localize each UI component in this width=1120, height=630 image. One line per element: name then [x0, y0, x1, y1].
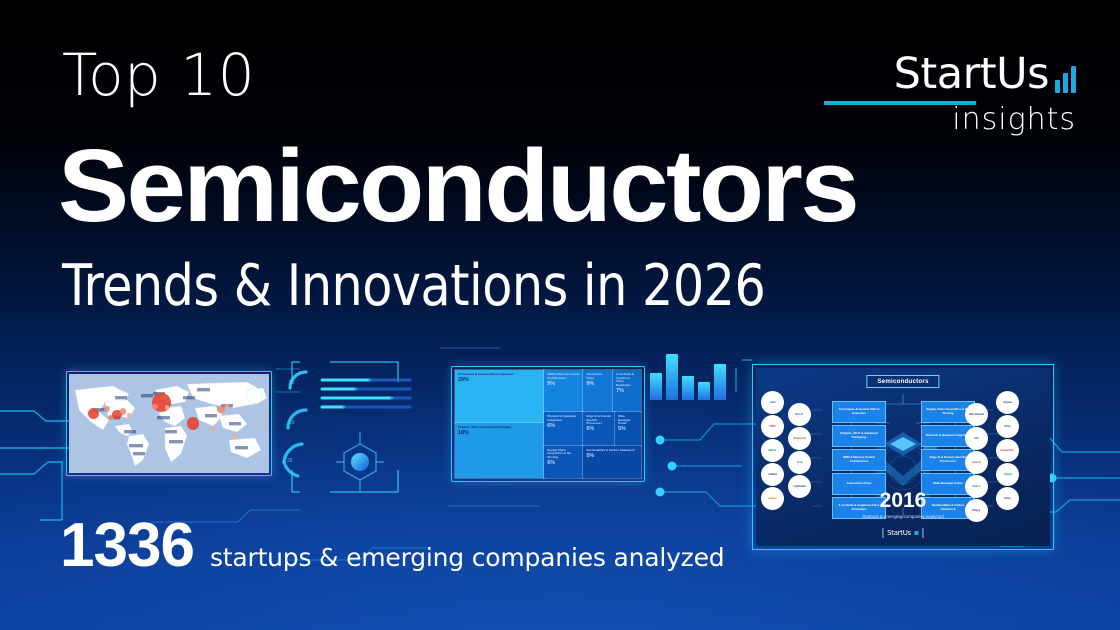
- treemap-chart: AI Compute & Custom Silicon Explosion29%…: [455, 370, 641, 478]
- company-logo-label: SiFive: [1004, 425, 1011, 428]
- trend-box-label: Automotive Chips: [847, 482, 872, 486]
- company-logo-label: SiMa.ai: [769, 449, 777, 452]
- eyebrow-top10: Top 10: [62, 46, 255, 104]
- innovation-map-panel[interactable]: Semiconductors AI Compute & Custom Silic…: [752, 364, 1054, 550]
- company-logo-bubble[interactable]: SiFive: [996, 415, 1019, 438]
- treemap-cell-label: AI Compute & Custom Silicon Explosion: [458, 373, 541, 377]
- company-logo-bubble[interactable]: Blue Cheetah: [965, 403, 988, 426]
- company-logo-bubble[interactable]: d-Matrix: [761, 463, 784, 486]
- trend-box-label: AI Compute & Custom Silicon Explosion: [835, 408, 883, 415]
- treemap-cell-value: 6%: [586, 427, 612, 433]
- treemap-cell: Supply Chain Geopolitics & Re-Shoring6%: [544, 446, 583, 478]
- treemap-cell: Sustainability & Carbon Abatement5%: [583, 446, 641, 478]
- treemap-cell-value: 6%: [547, 461, 580, 467]
- trend-box-label: HBM & Memory Centric Architectures: [835, 456, 883, 463]
- company-logo-label: Blaize: [1004, 497, 1011, 500]
- map-bubble: [165, 405, 169, 409]
- decoration-bar: [650, 373, 662, 400]
- map-bubble: [217, 406, 224, 413]
- page-subtitle: Trends & Innovations in 2026: [62, 258, 765, 315]
- innovation-map-caption: Startups & emerging companies analyzed: [862, 514, 943, 519]
- innovation-map-canvas: Semiconductors AI Compute & Custom Silic…: [756, 368, 1050, 546]
- trend-box[interactable]: HBM & Memory Centric Architectures: [832, 449, 886, 471]
- treemap-cell-value: 7%: [616, 389, 638, 395]
- decoration-bar: [714, 364, 726, 400]
- bar-chart-icon: [1055, 66, 1076, 96]
- trend-box[interactable]: AI Compute & Custom Silicon Explosion: [832, 401, 886, 423]
- treemap-cell-value: 29%: [458, 378, 541, 384]
- company-logo-label: Axelera: [768, 497, 776, 500]
- company-logo-bubble[interactable]: Rain AI: [788, 403, 811, 426]
- decoration-bar: [666, 354, 678, 400]
- company-logo-label: ProteanTecs: [1001, 449, 1015, 452]
- treemap-cell-label: 2 nm Node & Angstrom-Class Roadmaps: [616, 373, 638, 387]
- poster-canvas: Top 10 StartUs insights Semiconductors T…: [0, 0, 1120, 630]
- hud-decoration-group: 75 50 25: [282, 358, 450, 498]
- trend-box-label: Photonic & Quantum Integration: [926, 434, 970, 438]
- logo-tagline: insights: [952, 105, 1076, 135]
- company-logo-bubble[interactable]: Groq: [788, 451, 811, 474]
- map-bubble: [120, 408, 126, 414]
- treemap-cell: Photonic & Quantum Integration6%: [544, 412, 583, 445]
- svg-text:75: 75: [289, 380, 295, 386]
- company-logo-label: Tenstorrent: [793, 437, 805, 440]
- svg-text:50: 50: [289, 420, 295, 426]
- treemap-cell-value: 9%: [586, 382, 610, 388]
- startup-count-stat: 1336 startups & emerging companies analy…: [60, 515, 724, 577]
- map-bubble: [104, 406, 110, 412]
- innovation-map-brand-name: StartUs: [887, 529, 911, 537]
- svg-text:25: 25: [287, 458, 293, 464]
- treemap-cell: Automotive Chips9%: [583, 370, 613, 412]
- company-logo-bubble[interactable]: Tenstorrent: [788, 427, 811, 450]
- trend-box[interactable]: Automotive Chips: [832, 473, 886, 495]
- company-logo-bubble[interactable]: EdgeQ: [996, 463, 1019, 486]
- treemap-cell-label: HBM & Memory Centric Architectures: [547, 373, 580, 380]
- company-logo-label: Incoson: [972, 461, 981, 464]
- treemap-cell-value: 5%: [586, 454, 638, 460]
- company-logo-bubble[interactable]: ProteanTecs: [996, 439, 1019, 462]
- company-logo-bubble[interactable]: Ampere: [996, 391, 1019, 414]
- treemap-cell: Chiplets, 3D IC & Advanced Packaging18%: [455, 423, 544, 478]
- map-bubble: [152, 404, 157, 409]
- company-logo-label: EVP: [974, 437, 979, 440]
- company-logo-bubble[interactable]: EVP: [965, 427, 988, 450]
- treemap-cell-label: Supply Chain Geopolitics & Re-Shoring: [547, 449, 580, 460]
- company-logo-bubble[interactable]: Ridgeg: [965, 499, 988, 522]
- company-logo-label: Hailo: [770, 401, 776, 404]
- company-logo-label: EdgeQ: [1004, 473, 1011, 476]
- company-logo-label: Ridgeg: [973, 509, 981, 512]
- trend-box[interactable]: Chiplets, 3D IC & Advanced Packaging: [832, 425, 886, 447]
- company-logo-label: Lightmatter: [793, 485, 806, 488]
- company-logo-bubble[interactable]: SiMa.ai: [761, 439, 784, 462]
- treemap-cell: HBM & Memory Centric Architectures9%: [544, 370, 583, 412]
- treemap-cell: 2 nm Node & Angstrom-Class Roadmaps7%: [613, 370, 641, 412]
- logo-name: StartUs: [894, 53, 1049, 96]
- company-logo-label: d-Matrix: [768, 473, 777, 476]
- treemap-cell-label: Automotive Chips: [586, 373, 610, 380]
- company-logo-bubble[interactable]: Incoson: [965, 451, 988, 474]
- company-logo-bubble[interactable]: Deltron: [965, 475, 988, 498]
- startup-count-number: 1336: [60, 515, 194, 577]
- map-bubble: [211, 426, 215, 430]
- innovation-map-year: 2016: [880, 490, 927, 511]
- company-logo-bubble[interactable]: Axelera: [761, 487, 784, 510]
- decoration-bar: [698, 382, 710, 400]
- brand-tick-icon: [915, 531, 919, 535]
- company-logo-label: TSMC: [769, 425, 776, 428]
- company-logo-bubble[interactable]: Lightmatter: [788, 475, 811, 498]
- treemap-cell-label: Wide Bandgap Power: [618, 415, 638, 426]
- map-bubble: [187, 417, 199, 429]
- company-logo-bubble[interactable]: TSMC: [761, 415, 784, 438]
- treemap-cell: Edge AI & Domain Specific Processors6%: [583, 412, 615, 445]
- decoration-bar: [682, 376, 694, 400]
- treemap-cell: Wide Bandgap Power5%: [615, 412, 641, 445]
- treemap-cell-label: Sustainability & Carbon Abatement: [586, 449, 638, 453]
- map-bubble: [88, 408, 99, 419]
- treemap-cell-label: Photonic & Quantum Integration: [547, 415, 580, 422]
- company-logo-label: Blue Cheetah: [969, 413, 984, 416]
- world-map-landmass: [69, 374, 269, 473]
- logo-wordmark: StartUs: [824, 48, 1076, 96]
- treemap-cell-label: Chiplets, 3D IC & Advanced Packaging: [458, 426, 541, 430]
- innovation-map-brand: StartUs: [882, 528, 923, 538]
- bar-chart-decoration: [650, 352, 728, 400]
- trend-box-label: Wide Bandgap Power: [933, 482, 963, 486]
- trend-box-label: Chiplets, 3D IC & Advanced Packaging: [835, 432, 883, 439]
- company-logo-label: Ampere: [1003, 401, 1012, 404]
- world-map-panel[interactable]: [66, 371, 272, 476]
- treemap-cell-value: 18%: [458, 431, 541, 437]
- treemap-panel[interactable]: AI Compute & Custom Silicon Explosion29%…: [455, 370, 641, 478]
- innovation-map-header: Semiconductors: [866, 375, 939, 388]
- page-title: Semiconductors: [58, 134, 857, 237]
- treemap-cell-value: 9%: [547, 382, 580, 388]
- company-logo-bubble[interactable]: Blaize: [996, 487, 1019, 510]
- treemap-cell-value: 6%: [547, 424, 580, 430]
- startup-count-label: startups & emerging companies analyzed: [210, 545, 725, 570]
- treemap-cell: AI Compute & Custom Silicon Explosion29%: [455, 370, 544, 423]
- logo-tagline-row: insights: [824, 105, 1076, 135]
- company-logo-label: Deltron: [973, 485, 981, 488]
- trend-box-label: 2 nm Node & Angstrom-Class Roadmaps: [835, 504, 883, 511]
- startus-insights-logo[interactable]: StartUs insights: [824, 48, 1076, 140]
- treemap-cell-label: Edge AI & Domain Specific Processors: [586, 415, 612, 426]
- treemap-cell-value: 5%: [618, 427, 638, 433]
- company-logo-label: Rain AI: [796, 413, 804, 416]
- company-logo-label: Groq: [797, 461, 803, 464]
- world-map-canvas: [69, 374, 269, 473]
- company-logo-bubble[interactable]: Hailo: [761, 391, 784, 414]
